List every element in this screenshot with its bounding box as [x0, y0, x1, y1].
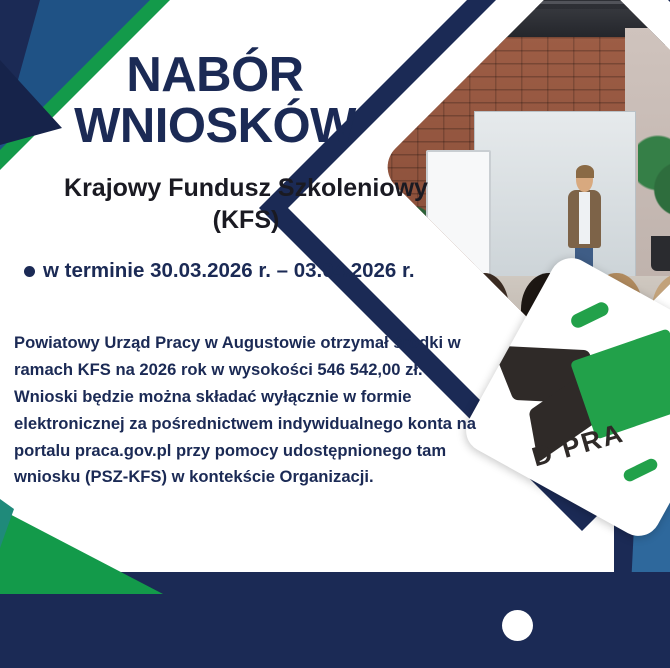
poster-canvas: D PRA NABÓR WNIOSKÓW Krajowy Fundusz Szk… [0, 0, 670, 668]
page-title-line2: WNIOSKÓW [0, 101, 430, 152]
page-title: NABÓR WNIOSKÓW [0, 50, 430, 153]
date-list-item: w terminie 30.03.2026 r. – 03.04.2026 r. [24, 259, 494, 283]
page-title-line1: NABÓR [126, 48, 303, 102]
bullet-dot-icon [24, 266, 35, 277]
page-subtitle: Krajowy Fundusz Szkoleniowy (KFS) [0, 172, 492, 236]
date-range-text: w terminie 30.03.2026 r. – 03.04.2026 r. [43, 259, 415, 283]
body-paragraph: Powiatowy Urząd Pracy w Augustowie otrzy… [14, 330, 480, 491]
text-content: NABÓR WNIOSKÓW Krajowy Fundusz Szkolenio… [0, 0, 670, 668]
page-subtitle-line2: (KFS) [0, 204, 492, 236]
page-subtitle-line1: Krajowy Fundusz Szkoleniowy [64, 174, 428, 202]
